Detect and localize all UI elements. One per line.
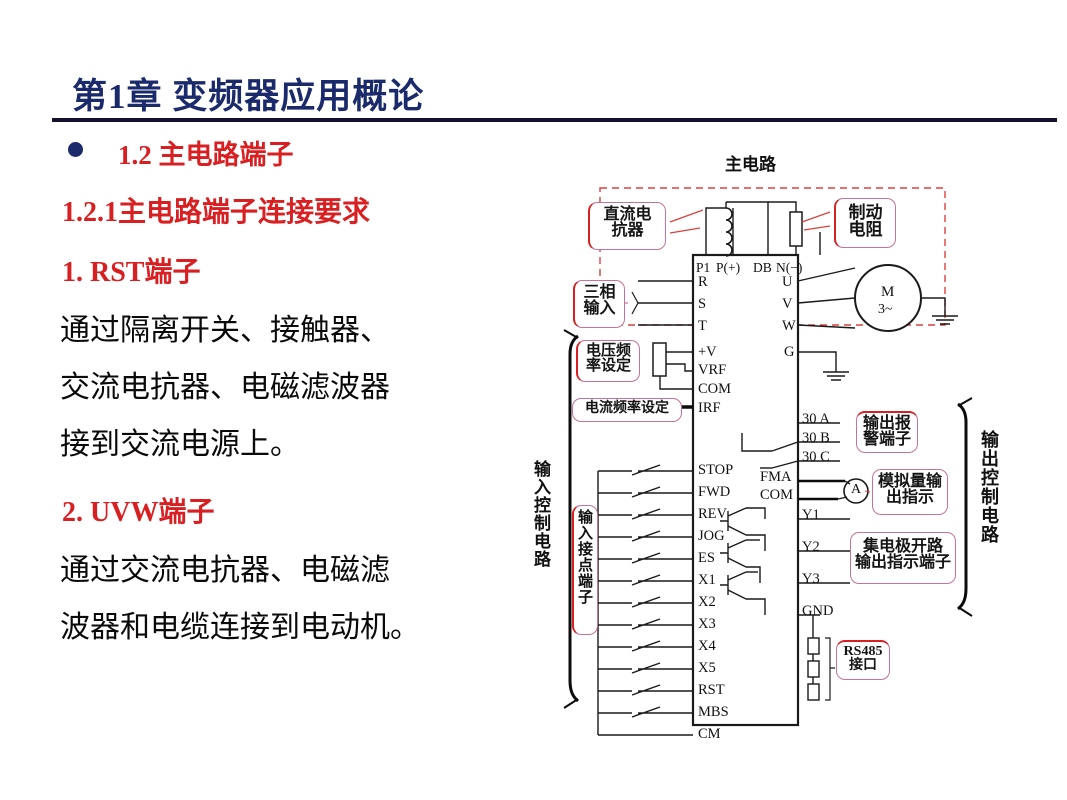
motor-label-m: M: [881, 284, 894, 301]
item1-heading: 1. RST端子: [62, 250, 200, 290]
callout-open-collector-output: 集电极开路 输出指示端子: [850, 532, 956, 584]
item2-heading: 2. UVW端子: [62, 490, 214, 530]
title-divider: [52, 118, 1057, 122]
slide-canvas: 第1章 变频器应用概论 1.2 主电路端子 1.2.1主电路端子连接要求 1. …: [0, 0, 1067, 800]
callout-voltage-freq-line2: 率设定: [581, 359, 636, 374]
terminal-vrf: VRF: [698, 362, 726, 379]
terminal-x5: X5: [698, 660, 716, 677]
callout-analog-output-indicator: 模拟量输 出指示: [872, 469, 948, 515]
terminal-db: DB: [753, 260, 772, 276]
terminal-v: V: [782, 296, 792, 313]
callout-brake-resistor-line1: 制动: [839, 204, 892, 221]
callout-rs485-interface: RS485 接口: [836, 640, 890, 680]
item1-line-3: 接到交流电源上。: [60, 419, 300, 463]
callout-three-phase-line2: 输入: [578, 301, 621, 317]
terminal-x4: X4: [698, 638, 716, 655]
callout-current-freq-setting: 电流频率设定: [572, 398, 682, 422]
callout-three-phase-input: 三相 输入: [573, 280, 625, 328]
motor-label-phase: 3~: [878, 302, 893, 318]
callout-dc-reactor: 直流电 抗器: [588, 202, 666, 250]
subsection-heading: 1.2.1主电路端子连接要求: [62, 190, 370, 230]
callout-voltage-freq-setting: 电压频 率设定: [576, 340, 640, 382]
terminal-r: R: [698, 274, 708, 291]
output-control-bracket: [958, 404, 966, 609]
callout-input-contact-terminal: 输入接点端子: [572, 505, 598, 635]
terminal-30c: 30 C: [802, 449, 830, 466]
terminal-rst: RST: [698, 682, 725, 699]
label-input-control-circuit: 输入控制电路: [532, 460, 549, 568]
item2-line-2: 波器和电缆连接到电动机。: [60, 602, 420, 646]
terminal-plus-v: +V: [698, 344, 717, 361]
terminal-x1: X1: [698, 572, 716, 589]
callout-alarm-output-terminal: 输出报 警端子: [856, 411, 918, 453]
terminal-com-analog: COM: [698, 381, 731, 398]
callout-brake-resistor-line2: 电阻: [839, 221, 892, 238]
terminal-s: S: [698, 296, 706, 313]
main-circuit-title: 主电路: [725, 150, 776, 175]
brake-resistor-symbol: [790, 212, 802, 246]
bullet-icon: [68, 142, 83, 157]
terminal-fma: FMA: [760, 469, 791, 486]
terminal-gnd: GND: [802, 603, 833, 620]
terminal-p-plus: P(+): [716, 260, 740, 276]
callout-analog-line1: 模拟量输: [876, 474, 944, 490]
item2-line-1: 通过交流电抗器、电磁滤: [60, 545, 390, 589]
callout-dc-reactor-line2: 抗器: [593, 223, 662, 239]
terminal-30a: 30 A: [802, 411, 830, 428]
callout-analog-line2: 出指示: [876, 490, 944, 506]
terminal-y3: Y3: [802, 571, 820, 588]
terminal-w: W: [782, 318, 796, 335]
terminal-30b: 30 B: [802, 430, 830, 447]
terminal-fwd: FWD: [698, 484, 730, 501]
callout-open-collector-line1: 集电极开路: [854, 539, 952, 555]
potentiometer-symbol: [653, 343, 666, 376]
item1-line-2: 交流电抗器、电磁滤波器: [60, 362, 390, 406]
ammeter-label: A: [851, 482, 861, 498]
callout-alarm-line1: 输出报: [860, 416, 914, 432]
callout-rs485-line1: RS485: [840, 645, 886, 659]
section-heading: 1.2 主电路端子: [118, 133, 294, 172]
label-output-control-circuit: 输出控制电路: [980, 430, 998, 544]
terminal-x2: X2: [698, 594, 716, 611]
terminal-x3: X3: [698, 616, 716, 633]
terminal-t: T: [698, 318, 707, 335]
callout-current-freq-text: 电流频率设定: [576, 402, 678, 416]
terminal-y2: Y2: [802, 539, 820, 556]
page-title: 第1章 变频器应用概论: [72, 68, 424, 119]
callout-rs485-line2: 接口: [840, 659, 886, 673]
terminal-g: G: [784, 344, 794, 361]
terminal-cm: CM: [698, 726, 721, 743]
callout-voltage-freq-line1: 电压频: [581, 344, 636, 359]
terminal-jog: JOG: [698, 528, 725, 545]
terminal-es: ES: [698, 550, 715, 567]
terminal-com-out: COM: [760, 487, 793, 504]
terminal-rev: REV: [698, 506, 727, 523]
callout-alarm-line2: 警端子: [860, 432, 914, 448]
inverter-wiring-diagram: 主电路: [520, 140, 1067, 780]
terminal-u: U: [782, 274, 792, 291]
callout-open-collector-line2: 输出指示端子: [854, 555, 952, 571]
terminal-irf: IRF: [698, 400, 721, 417]
callout-three-phase-line1: 三相: [578, 285, 621, 301]
item1-line-1: 通过隔离开关、接触器、: [60, 305, 390, 349]
terminal-y1: Y1: [802, 507, 820, 524]
terminal-stop: STOP: [698, 462, 733, 479]
callout-dc-reactor-line1: 直流电: [593, 207, 662, 223]
callout-input-contact-text: 输入接点端子: [576, 509, 591, 605]
terminal-mbs: MBS: [698, 704, 729, 721]
callout-brake-resistor: 制动 电阻: [834, 198, 896, 248]
